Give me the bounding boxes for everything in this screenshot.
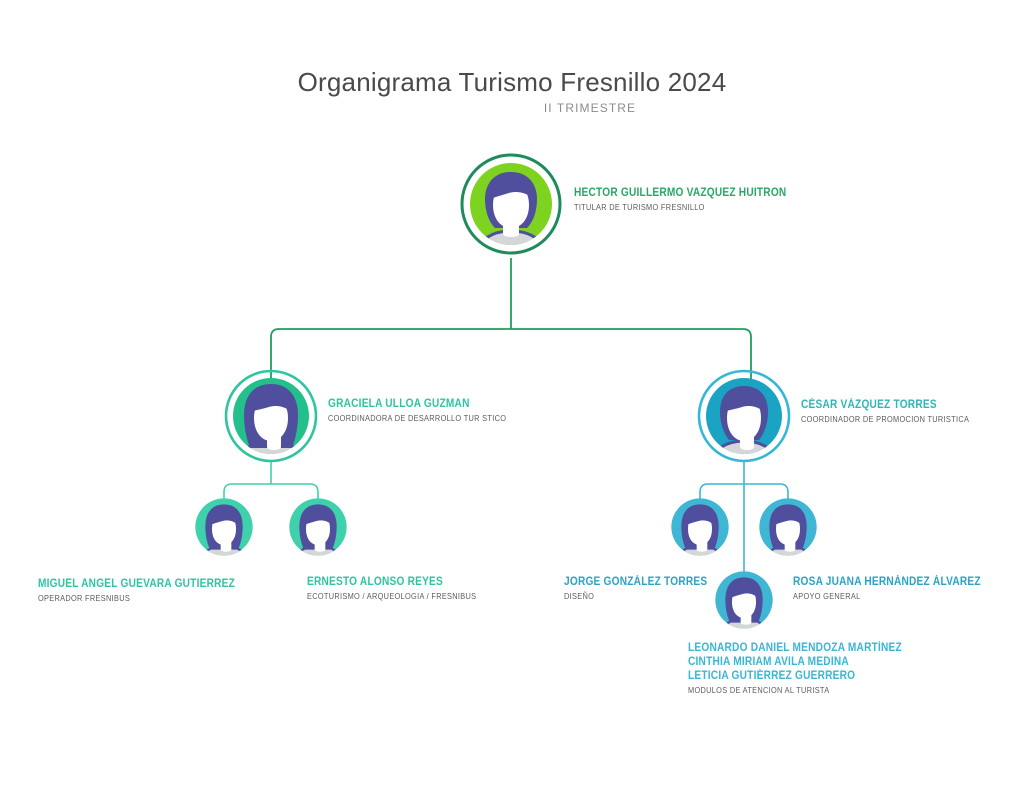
label-left-child-1-role: OPERADOR FRESNIBUS — [38, 593, 240, 604]
node-left-child-1[interactable] — [192, 495, 256, 559]
label-right-child-3-role: MODULOS DE ATENCION AL TURISTA — [688, 685, 907, 696]
avatar-female-icon — [756, 495, 820, 559]
label-root-name: HECTOR GUILLERMO VAZQUEZ HUITRON — [574, 186, 786, 200]
page-subtitle: II TRIMESTRE — [0, 101, 1024, 115]
avatar-female-icon — [712, 568, 776, 632]
node-coord-left[interactable] — [223, 368, 319, 464]
page-title: Organigrama Turismo Fresnillo 2024 — [0, 66, 1024, 98]
node-right-child-3[interactable] — [712, 568, 776, 632]
label-right-child-1: JORGE GONZÁLEZ TORRES DISEÑO — [564, 575, 727, 602]
label-left-child-1: MIGUEL ANGEL GUEVARA GUTIERREZ OPERADOR … — [38, 577, 262, 604]
label-right-child-3: LEONARDO DANIEL MENDOZA MARTÍNEZ CINTHIA… — [688, 641, 931, 696]
avatar-male-icon — [696, 368, 792, 464]
label-right-child-1-role: DISEÑO — [564, 591, 711, 602]
label-right-child-3-name-2: CINTHIA MIRIAM AVILA MEDINA — [688, 655, 902, 669]
node-coord-right[interactable] — [696, 368, 792, 464]
label-root-role: TITULAR DE TURISMO FRESNILLO — [574, 202, 791, 213]
label-coord-right: CÉSAR VÁZQUEZ TORRES COORDINADOR DE PROM… — [801, 398, 988, 425]
label-right-child-2: ROSA JUANA HERNÁNDEZ ÁLVAREZ APOYO GENER… — [793, 575, 1006, 602]
title-block: Organigrama Turismo Fresnillo 2024 II TR… — [0, 66, 1024, 115]
label-left-child-2: ERNESTO ALONSO REYES ECOTURISMO / ARQUEO… — [307, 575, 495, 602]
organigrama-page: Organigrama Turismo Fresnillo 2024 II TR… — [0, 0, 1024, 787]
label-right-child-1-name: JORGE GONZÁLEZ TORRES — [564, 575, 707, 589]
label-coord-left: GRACIELA ULLOA GUZMAN COORDINADORA DE DE… — [328, 397, 526, 424]
label-left-child-1-name: MIGUEL ANGEL GUEVARA GUTIERREZ — [38, 577, 235, 591]
label-left-child-2-name: ERNESTO ALONSO REYES — [307, 575, 473, 589]
label-coord-right-role: COORDINADOR DE PROMOCION TURISTICA — [801, 414, 969, 425]
label-coord-right-name: CÉSAR VÁZQUEZ TORRES — [801, 398, 965, 412]
avatar-female-icon — [286, 495, 350, 559]
label-right-child-2-name: ROSA JUANA HERNÁNDEZ ÁLVAREZ — [793, 575, 981, 589]
avatar-female-icon — [192, 495, 256, 559]
node-right-child-1[interactable] — [668, 495, 732, 559]
node-root[interactable] — [459, 152, 563, 256]
avatar-male-icon — [459, 152, 563, 256]
avatar-female-icon — [668, 495, 732, 559]
label-root: HECTOR GUILLERMO VAZQUEZ HUITRON TITULAR… — [574, 186, 815, 213]
avatar-female-icon — [223, 368, 319, 464]
node-right-child-2[interactable] — [756, 495, 820, 559]
label-right-child-2-role: APOYO GENERAL — [793, 591, 985, 602]
label-right-child-3-name-3: LETICIA GUTIÉRREZ GUERRERO — [688, 669, 902, 683]
label-coord-left-role: COORDINADORA DE DESARROLLO TUR STICO — [328, 413, 506, 424]
label-coord-left-name: GRACIELA ULLOA GUZMAN — [328, 397, 502, 411]
label-right-child-3-name-1: LEONARDO DANIEL MENDOZA MARTÍNEZ — [688, 641, 902, 655]
label-left-child-2-role: ECOTURISMO / ARQUEOLOGIA / FRESNIBUS — [307, 591, 476, 602]
node-left-child-2[interactable] — [286, 495, 350, 559]
